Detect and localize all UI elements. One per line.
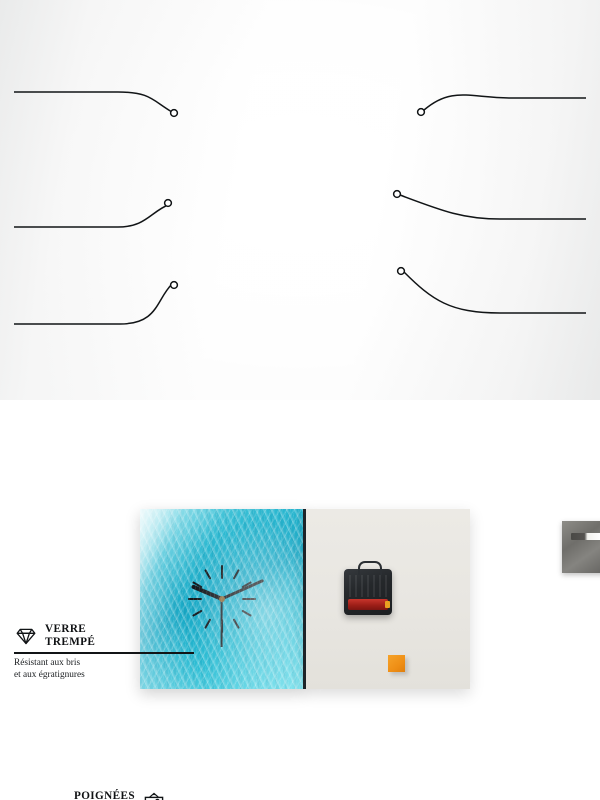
clock-marker	[192, 581, 252, 617]
callout-title: VERRE TREMPÉ	[45, 623, 95, 649]
leader-line-bords-polis	[14, 284, 172, 324]
clock-second-hand	[221, 599, 223, 647]
clock-marker	[188, 598, 256, 600]
callout-header: POIGNÉES MÉTALLIQUES	[0, 790, 166, 800]
callout-divider	[14, 652, 194, 654]
movement-vents	[349, 575, 387, 597]
leader-dot-poignees	[418, 109, 425, 116]
orange-foam-spacer	[388, 655, 405, 672]
clock-marker	[221, 565, 223, 633]
leader-dot-impression	[165, 200, 172, 207]
battery	[348, 599, 388, 610]
leader-dot-mecanisme	[394, 191, 401, 198]
leader-line-entretoise	[404, 272, 586, 313]
clock-back-panel	[306, 509, 470, 689]
leader-dot-verre-trempe	[171, 110, 178, 117]
clock-marker	[204, 569, 240, 629]
callout-sub-line1: Résistant aux bris	[14, 658, 194, 670]
diamond-icon	[14, 624, 38, 648]
movement-hanging-loop	[358, 561, 382, 575]
clock-marker	[188, 598, 256, 600]
clock-marker	[192, 581, 252, 617]
callout-sub-line2: et aux égratignures	[14, 670, 194, 682]
clock-minute-hand	[221, 579, 264, 600]
callout-title: POIGNÉES MÉTALLIQUES	[48, 790, 135, 800]
quartz-movement-box	[344, 569, 392, 615]
callout-subtitle: Résistant aux bris et aux égratignures	[14, 658, 194, 682]
clock-marker	[192, 581, 252, 617]
leader-dot-bords-polis	[171, 282, 178, 289]
callout-verre-trempe: VERRE TREMPÉ Résistant aux bris et aux é…	[14, 623, 194, 682]
infographic-canvas: VERRE TREMPÉ Résistant aux bris et aux é…	[0, 0, 600, 400]
clock-marker	[204, 569, 240, 629]
hanger-slot	[571, 533, 600, 540]
callout-header: VERRE TREMPÉ	[14, 623, 194, 649]
leader-line-verre-trempe	[14, 92, 172, 112]
callout-poignees-metalliques: POIGNÉES MÉTALLIQUES Facilite le montage…	[0, 790, 166, 800]
callout-title-line2: TREMPÉ	[45, 636, 95, 649]
callout-title-line1: VERRE	[45, 623, 95, 636]
clock-marker	[204, 569, 240, 629]
clock-marker	[204, 569, 240, 629]
leader-line-poignees	[424, 95, 586, 110]
leader-line-mecanisme	[400, 195, 586, 219]
clock-marker	[192, 581, 252, 617]
clock-marker	[221, 565, 223, 633]
clock-center-cap	[219, 596, 225, 602]
leader-dot-entretoise	[398, 268, 405, 275]
leader-line-impression	[14, 204, 170, 227]
leader-lines	[0, 0, 600, 400]
clock-hour-hand	[190, 584, 222, 601]
picture-frame-hanger-icon	[142, 791, 166, 800]
metal-hanger-plate	[562, 521, 600, 573]
callout-title-line1: POIGNÉES	[48, 790, 135, 800]
